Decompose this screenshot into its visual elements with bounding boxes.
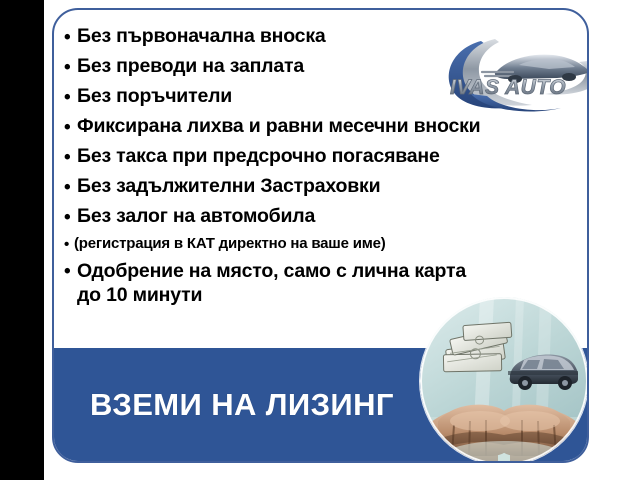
bullet-icon: • — [64, 26, 77, 47]
bullet-icon: • — [64, 56, 77, 77]
bullet-icon: • — [64, 86, 77, 107]
hands-holding-money-and-car-photo — [420, 297, 588, 463]
list-item: • Без задължителни Застраховки — [64, 176, 584, 197]
poster-stage: • Без първоначална вноска • Без преводи … — [0, 0, 640, 480]
list-item-label: Без залог на автомобила — [77, 206, 584, 226]
bullet-icon: • — [64, 146, 77, 167]
bullet-icon: • — [64, 116, 77, 137]
cta-banner-headline: ВЗЕМИ НА ЛИЗИНГ — [90, 387, 394, 423]
bullet-icon: • — [64, 236, 74, 252]
list-item: • Без такса при предсрочно погасяване — [64, 146, 584, 167]
list-item-label: Без такса при предсрочно погасяване — [77, 146, 584, 166]
list-item-note: • (регистрация в КАТ директно на ваше им… — [64, 236, 584, 252]
list-item-label: Без задължителни Застраховки — [77, 176, 584, 196]
bullet-icon: • — [64, 176, 77, 197]
list-item: • Без залог на автомобила — [64, 206, 584, 227]
list-item-label: Фиксирана лихва и равни месечни вноски — [77, 116, 584, 136]
bullet-icon: • — [64, 206, 77, 227]
logo-brand-text: IVAS AUTO — [450, 76, 566, 99]
ivas-auto-logo: IVAS AUTO — [437, 32, 589, 112]
promo-card: • Без първоначална вноска • Без преводи … — [52, 8, 589, 463]
left-letterbox-band — [0, 0, 44, 480]
list-item: • Фиксирана лихва и равни месечни вноски — [64, 116, 584, 137]
bullet-icon: • — [64, 260, 77, 281]
list-item-note-label: (регистрация в КАТ директно на ваше име) — [74, 236, 584, 252]
